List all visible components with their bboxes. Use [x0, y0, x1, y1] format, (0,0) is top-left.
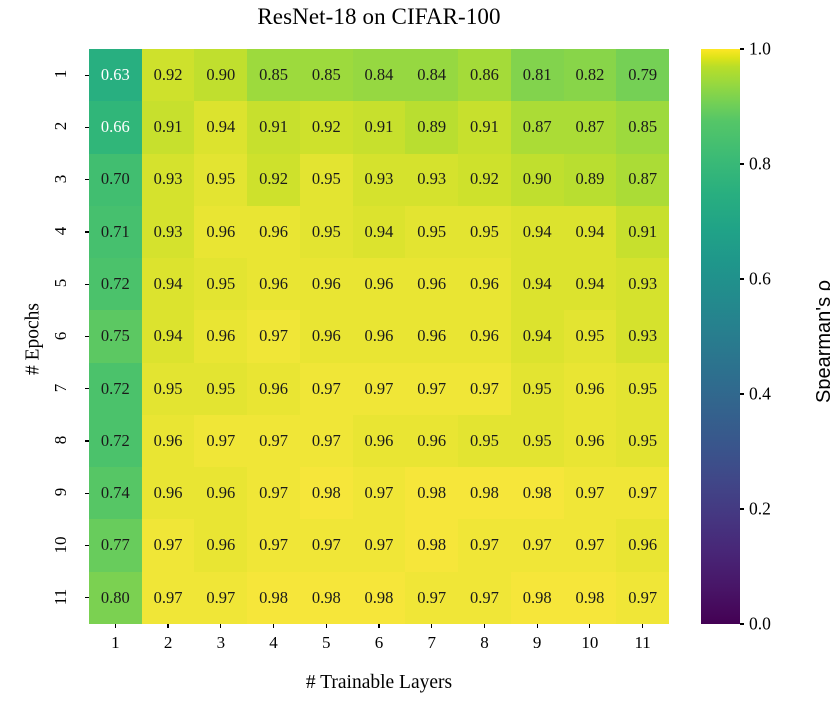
heatmap-cell: 0.95	[511, 415, 564, 467]
y-tick-mark	[85, 75, 89, 76]
heatmap-cell: 0.82	[564, 49, 617, 101]
heatmap-cell: 0.93	[616, 310, 669, 362]
heatmap-cell: 0.97	[564, 467, 617, 519]
heatmap-cell: 0.97	[247, 310, 300, 362]
heatmap-cell: 0.96	[142, 467, 195, 519]
heatmap-cell: 0.95	[458, 206, 511, 258]
heatmap-cell: 0.97	[353, 467, 406, 519]
heatmap-cell: 0.91	[458, 101, 511, 153]
colorbar-tick-mark	[740, 163, 744, 164]
colorbar-tick-mark	[740, 508, 744, 509]
heatmap-cell: 0.85	[616, 101, 669, 153]
heatmap-cell: 0.93	[142, 154, 195, 206]
y-tick-label: 9	[51, 474, 71, 510]
heatmap-cell: 0.96	[564, 363, 617, 415]
y-tick-label: 10	[51, 527, 71, 563]
heatmap-cell: 0.81	[511, 49, 564, 101]
heatmap-cell: 0.90	[511, 154, 564, 206]
heatmap-cell: 0.91	[353, 101, 406, 153]
heatmap-cell: 0.96	[247, 363, 300, 415]
heatmap-cell: 0.92	[247, 154, 300, 206]
heatmap-cell: 0.97	[194, 572, 247, 624]
x-tick-mark	[167, 624, 168, 628]
heatmap-cell: 0.87	[616, 154, 669, 206]
heatmap-cell: 0.94	[511, 206, 564, 258]
heatmap-cell: 0.84	[353, 49, 406, 101]
x-tick-label: 4	[269, 633, 278, 653]
heatmap-cell: 0.94	[564, 258, 617, 310]
heatmap-cell: 0.96	[353, 258, 406, 310]
y-tick-label: 11	[51, 579, 71, 615]
heatmap-grid: 0.630.920.900.850.850.840.840.860.810.82…	[89, 49, 669, 624]
heatmap-figure: ResNet-18 on CIFAR-100 0.630.920.900.850…	[0, 0, 830, 712]
x-tick-mark	[273, 624, 274, 628]
heatmap-cell: 0.95	[405, 206, 458, 258]
y-tick-label: 3	[51, 161, 71, 197]
heatmap-cell: 0.92	[300, 101, 353, 153]
heatmap-cell: 0.97	[458, 572, 511, 624]
heatmap-cell: 0.91	[616, 206, 669, 258]
heatmap-cell: 0.96	[142, 415, 195, 467]
heatmap-cell: 0.98	[300, 572, 353, 624]
heatmap-cell: 0.87	[511, 101, 564, 153]
x-tick-mark	[537, 624, 538, 628]
y-tick-label: 6	[51, 318, 71, 354]
heatmap-cell: 0.71	[89, 206, 142, 258]
heatmap-cell: 0.94	[194, 101, 247, 153]
heatmap-cell: 0.96	[194, 467, 247, 519]
colorbar-tick-label: 0.4	[749, 384, 771, 405]
heatmap-cell: 0.96	[194, 206, 247, 258]
heatmap-cell: 0.97	[616, 572, 669, 624]
colorbar-tick-label: 1.0	[749, 39, 771, 60]
heatmap-cell: 0.77	[89, 519, 142, 571]
heatmap-cell: 0.98	[564, 572, 617, 624]
heatmap-cell: 0.97	[247, 467, 300, 519]
heatmap-cell: 0.97	[405, 572, 458, 624]
heatmap-cell: 0.91	[247, 101, 300, 153]
colorbar-tick-label: 0.8	[749, 154, 771, 175]
heatmap-cell: 0.95	[194, 258, 247, 310]
heatmap-cell: 0.96	[300, 258, 353, 310]
y-tick-label: 8	[51, 422, 71, 458]
heatmap-cell: 0.95	[142, 363, 195, 415]
heatmap-cell: 0.97	[300, 363, 353, 415]
heatmap-cell: 0.74	[89, 467, 142, 519]
heatmap-cell: 0.95	[616, 363, 669, 415]
heatmap-cell: 0.97	[616, 467, 669, 519]
heatmap-plot-area: 0.630.920.900.850.850.840.840.860.810.82…	[89, 49, 669, 624]
y-tick-label: 5	[51, 265, 71, 301]
heatmap-cell: 0.96	[405, 258, 458, 310]
heatmap-cell: 0.96	[353, 310, 406, 362]
colorbar-tick-mark	[740, 623, 744, 624]
x-tick-mark	[220, 624, 221, 628]
heatmap-cell: 0.94	[353, 206, 406, 258]
y-tick-mark	[85, 440, 89, 441]
heatmap-cell: 0.95	[458, 415, 511, 467]
y-tick-mark	[85, 179, 89, 180]
heatmap-cell: 0.97	[142, 572, 195, 624]
heatmap-cell: 0.97	[564, 519, 617, 571]
heatmap-cell: 0.95	[194, 363, 247, 415]
heatmap-cell: 0.95	[300, 154, 353, 206]
x-tick-label: 11	[634, 633, 650, 653]
heatmap-cell: 0.93	[353, 154, 406, 206]
colorbar	[701, 49, 740, 624]
colorbar-tick-mark	[740, 48, 744, 49]
heatmap-cell: 0.72	[89, 415, 142, 467]
y-axis-title: # Epochs	[23, 52, 45, 627]
heatmap-cell: 0.96	[458, 258, 511, 310]
heatmap-cell: 0.97	[247, 519, 300, 571]
heatmap-cell: 0.97	[300, 415, 353, 467]
colorbar-tick-label: 0.2	[749, 499, 771, 520]
heatmap-cell: 0.79	[616, 49, 669, 101]
x-tick-mark	[115, 624, 116, 628]
heatmap-cell: 0.96	[247, 206, 300, 258]
heatmap-cell: 0.96	[405, 415, 458, 467]
heatmap-cell: 0.94	[142, 310, 195, 362]
x-tick-mark	[431, 624, 432, 628]
heatmap-cell: 0.94	[511, 258, 564, 310]
x-tick-label: 9	[533, 633, 542, 653]
heatmap-cell: 0.87	[564, 101, 617, 153]
heatmap-cell: 0.97	[458, 363, 511, 415]
heatmap-cell: 0.95	[564, 310, 617, 362]
heatmap-cell: 0.93	[405, 154, 458, 206]
heatmap-cell: 0.92	[458, 154, 511, 206]
heatmap-cell: 0.95	[300, 206, 353, 258]
colorbar-title: Spearman's ρ	[813, 54, 830, 629]
colorbar-tick-label: 0.0	[749, 614, 771, 635]
heatmap-cell: 0.96	[616, 519, 669, 571]
heatmap-cell: 0.72	[89, 363, 142, 415]
heatmap-cell: 0.95	[616, 415, 669, 467]
y-tick-label: 1	[51, 56, 71, 92]
colorbar-tick-mark	[740, 393, 744, 394]
heatmap-cell: 0.96	[458, 310, 511, 362]
y-tick-mark	[85, 388, 89, 389]
heatmap-cell: 0.94	[142, 258, 195, 310]
x-tick-label: 7	[427, 633, 436, 653]
heatmap-cell: 0.97	[194, 415, 247, 467]
heatmap-cell: 0.97	[353, 519, 406, 571]
x-tick-mark	[484, 624, 485, 628]
heatmap-cell: 0.97	[458, 519, 511, 571]
heatmap-cell: 0.72	[89, 258, 142, 310]
x-tick-label: 10	[581, 633, 598, 653]
heatmap-cell: 0.96	[194, 310, 247, 362]
y-tick-mark	[85, 127, 89, 128]
heatmap-cell: 0.85	[247, 49, 300, 101]
heatmap-cell: 0.97	[247, 415, 300, 467]
heatmap-cell: 0.98	[247, 572, 300, 624]
colorbar-tick-label: 0.6	[749, 269, 771, 290]
heatmap-cell: 0.96	[564, 415, 617, 467]
y-tick-label: 2	[51, 108, 71, 144]
heatmap-cell: 0.86	[458, 49, 511, 101]
heatmap-cell: 0.94	[564, 206, 617, 258]
heatmap-cell: 0.96	[300, 310, 353, 362]
y-tick-mark	[85, 231, 89, 232]
heatmap-cell: 0.97	[353, 363, 406, 415]
page-title: ResNet-18 on CIFAR-100	[89, 4, 669, 30]
x-tick-label: 1	[111, 633, 120, 653]
y-tick-mark	[85, 597, 89, 598]
heatmap-cell: 0.97	[142, 519, 195, 571]
y-tick-label: 4	[51, 213, 71, 249]
heatmap-cell: 0.96	[353, 415, 406, 467]
heatmap-cell: 0.66	[89, 101, 142, 153]
heatmap-cell: 0.91	[142, 101, 195, 153]
heatmap-cell: 0.93	[142, 206, 195, 258]
x-tick-label: 3	[217, 633, 226, 653]
heatmap-cell: 0.85	[300, 49, 353, 101]
x-tick-label: 8	[480, 633, 489, 653]
heatmap-cell: 0.95	[194, 154, 247, 206]
heatmap-cell: 0.89	[405, 101, 458, 153]
heatmap-cell: 0.98	[458, 467, 511, 519]
heatmap-cell: 0.97	[405, 363, 458, 415]
heatmap-cell: 0.95	[511, 363, 564, 415]
y-tick-mark	[85, 284, 89, 285]
heatmap-cell: 0.98	[405, 519, 458, 571]
colorbar-gradient	[701, 49, 740, 624]
heatmap-cell: 0.97	[511, 519, 564, 571]
heatmap-cell: 0.92	[142, 49, 195, 101]
x-axis-title: # Trainable Layers	[89, 672, 669, 694]
heatmap-cell: 0.80	[89, 572, 142, 624]
heatmap-cell: 0.89	[564, 154, 617, 206]
x-tick-mark	[378, 624, 379, 628]
colorbar-tick-mark	[740, 278, 744, 279]
x-tick-mark	[326, 624, 327, 628]
heatmap-cell: 0.96	[405, 310, 458, 362]
y-tick-mark	[85, 493, 89, 494]
y-tick-label: 7	[51, 370, 71, 406]
heatmap-cell: 0.98	[511, 572, 564, 624]
heatmap-cell: 0.98	[511, 467, 564, 519]
x-tick-mark	[589, 624, 590, 628]
heatmap-cell: 0.98	[405, 467, 458, 519]
x-tick-mark	[642, 624, 643, 628]
heatmap-cell: 0.70	[89, 154, 142, 206]
x-tick-label: 2	[164, 633, 173, 653]
heatmap-cell: 0.90	[194, 49, 247, 101]
heatmap-cell: 0.63	[89, 49, 142, 101]
y-tick-mark	[85, 336, 89, 337]
heatmap-cell: 0.98	[300, 467, 353, 519]
heatmap-cell: 0.96	[247, 258, 300, 310]
heatmap-cell: 0.96	[194, 519, 247, 571]
heatmap-cell: 0.75	[89, 310, 142, 362]
heatmap-cell: 0.98	[353, 572, 406, 624]
heatmap-cell: 0.97	[300, 519, 353, 571]
heatmap-cell: 0.84	[405, 49, 458, 101]
x-tick-label: 6	[375, 633, 384, 653]
heatmap-cell: 0.93	[616, 258, 669, 310]
y-tick-mark	[85, 545, 89, 546]
heatmap-cell: 0.94	[511, 310, 564, 362]
x-tick-label: 5	[322, 633, 331, 653]
